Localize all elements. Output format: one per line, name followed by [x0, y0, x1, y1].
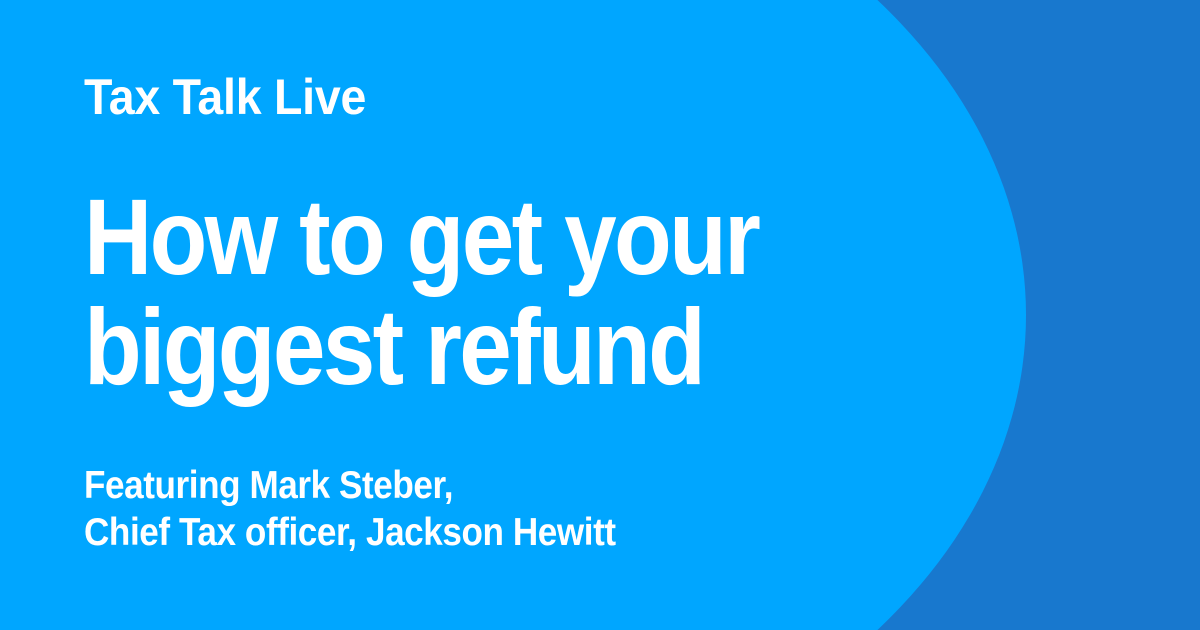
headline-line-2: biggest refund	[84, 292, 758, 402]
featured-guest-credit: Featuring Mark Steber, Chief Tax officer…	[84, 462, 616, 556]
credit-line-2: Chief Tax officer, Jackson Hewitt	[84, 509, 616, 556]
credit-line-1: Featuring Mark Steber,	[84, 462, 616, 509]
show-title-eyebrow: Tax Talk Live	[84, 68, 366, 126]
headline-line-1: How to get your	[84, 182, 758, 292]
headline: How to get your biggest refund	[84, 182, 758, 402]
promo-banner: Tax Talk Live How to get your biggest re…	[0, 0, 1200, 630]
banner-content: Tax Talk Live How to get your biggest re…	[0, 0, 1200, 630]
